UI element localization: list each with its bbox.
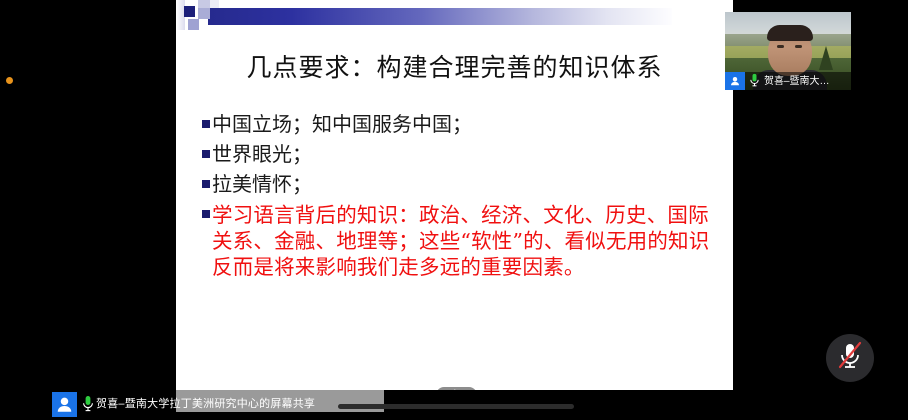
person-icon	[52, 392, 77, 417]
list-item: 世界眼光；	[202, 142, 712, 167]
mute-toggle-button[interactable]	[826, 334, 874, 382]
list-item: 中国立场；知中国服务中国；	[202, 112, 712, 137]
participant-eye-left	[777, 45, 784, 48]
microphone-muted-icon	[837, 341, 863, 376]
notification-dot	[6, 77, 13, 84]
bullet-text: 中国立场；知中国服务中国；	[212, 112, 472, 137]
shared-slide[interactable]: 几点要求：构建合理完善的知识体系 中国立场；知中国服务中国； 世界眼光； 拉美情…	[176, 0, 733, 392]
screen-share-label: 贺喜–暨南大学拉丁美洲研究中心的屏幕共享	[96, 395, 315, 411]
list-item: 学习语言背后的知识：政治、经济、文化、历史、国际关系、金融、地理等；这些“软性”…	[202, 202, 712, 280]
microphone-unmuted-icon	[749, 73, 760, 88]
bullet-text: 学习语言背后的知识：政治、经济、文化、历史、国际关系、金融、地理等；这些“软性”…	[212, 202, 712, 280]
deco-block-pale	[210, 0, 219, 8]
slide-title: 几点要求：构建合理完善的知识体系	[176, 48, 733, 84]
deco-block-mid	[198, 8, 210, 19]
deco-block-lower	[188, 19, 199, 30]
bullet-text: 世界眼光；	[212, 142, 312, 167]
slide-bullet-list: 中国立场；知中国服务中国； 世界眼光； 拉美情怀； 学习语言背后的知识：政治、经…	[202, 112, 712, 285]
screen-share-viewer: 几点要求：构建合理完善的知识体系 中国立场；知中国服务中国； 世界眼光； 拉美情…	[0, 0, 908, 420]
bullet-marker-icon	[202, 150, 210, 158]
bullet-marker-icon	[202, 180, 210, 188]
deco-gradient-bar	[208, 8, 672, 25]
participant-eye-right	[795, 45, 802, 48]
microphone-unmuted-icon	[82, 395, 94, 413]
bullet-marker-icon	[202, 120, 210, 128]
participant-video-tile[interactable]: 贺喜–暨南大…	[725, 12, 851, 90]
list-item: 拉美情怀；	[202, 172, 712, 197]
bullet-text: 拉美情怀；	[212, 172, 312, 197]
person-icon	[725, 72, 745, 90]
deco-block-navy	[184, 6, 195, 17]
participant-hair	[767, 25, 813, 41]
bullet-marker-icon	[202, 210, 210, 218]
participant-name-label: 贺喜–暨南大…	[764, 72, 830, 87]
horizontal-scrollbar[interactable]	[338, 404, 574, 409]
